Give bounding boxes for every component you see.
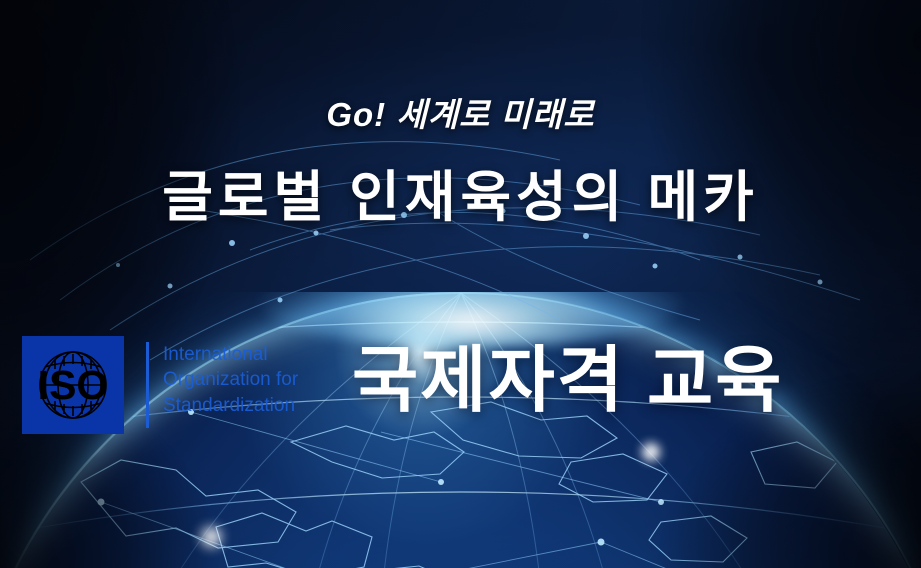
banner-tagline: Go! 세계로 미래로: [0, 88, 921, 136]
iso-name-line-2: Organization for: [163, 367, 298, 392]
iso-name-line-3: Standardization: [163, 393, 298, 418]
iso-logo: ISO International Organization for Stand…: [22, 336, 312, 434]
banner-headline: 글로벌 인재육성의 메카: [0, 152, 921, 232]
iso-logo-mark: ISO: [22, 336, 124, 434]
promo-banner: Go! 세계로 미래로 글로벌 인재육성의 메카 국제자격 교육: [0, 0, 921, 568]
iso-full-name: International Organization for Standardi…: [163, 336, 298, 434]
iso-name-line-1: International: [163, 342, 298, 367]
iso-mark-text: ISO: [38, 362, 109, 408]
banner-feature-text: 국제자격 교육: [352, 345, 783, 417]
iso-globe-icon: ISO: [22, 336, 124, 434]
iso-divider: [146, 342, 149, 428]
